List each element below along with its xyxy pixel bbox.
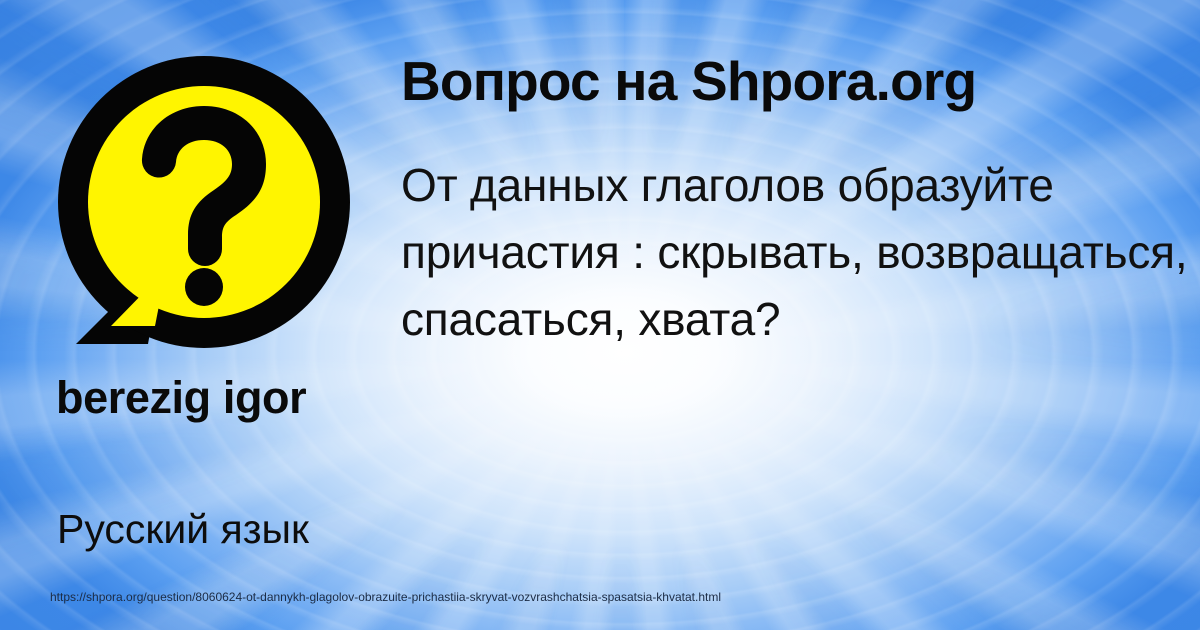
page-title: Вопрос на Shpora.org	[401, 50, 1181, 112]
question-text: От данных глаголов образуйте причастия :…	[401, 152, 1191, 353]
question-share-card: Вопрос на Shpora.org От данных глаголов …	[0, 0, 1200, 630]
question-speech-bubble-icon	[52, 44, 352, 354]
source-url: https://shpora.org/question/8060624-ot-d…	[50, 589, 721, 605]
subject-label: Русский язык	[57, 505, 397, 553]
author-username: berezig igor	[56, 372, 386, 423]
